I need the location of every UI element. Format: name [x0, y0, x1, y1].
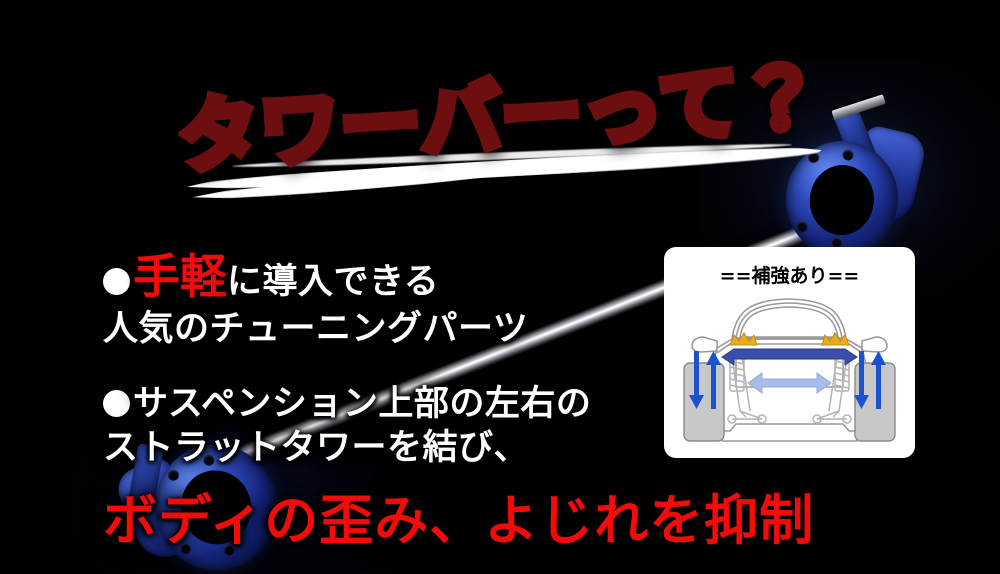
left-wheel	[684, 363, 724, 441]
copy-line-1-rest: に導入できる	[227, 262, 439, 302]
bracket-bolt-hole	[167, 469, 180, 482]
bracket-bolt-hole	[842, 149, 854, 161]
copy-line-3-text: サスペンション上部の左右の	[133, 384, 591, 424]
bullet-dot-icon	[103, 268, 130, 295]
copy-emphasis-easy: 手軽	[133, 250, 227, 305]
poster-canvas: タワーバーって？ 手軽に導入できる 人気のチューニングパーツ サスペンション上部…	[0, 0, 1000, 574]
copy-line-4: ストラットタワーを結び、	[103, 426, 591, 470]
bullet-dot-icon	[103, 390, 130, 417]
inset-caption: ==補強あり==	[664, 261, 915, 288]
copy-block-function: サスペンション上部の左右の ストラットタワーを結び、	[103, 382, 591, 470]
right-strut-mount	[822, 333, 849, 345]
copy-line-2: 人気のチューニングパーツ	[103, 307, 528, 351]
bracket-bolt-hole	[796, 221, 808, 233]
left-strut-mount	[730, 333, 757, 345]
copy-line-3: サスペンション上部の左右の	[103, 382, 591, 426]
inset-diagram-panel: ==補強あり==	[664, 247, 915, 458]
headline-benefit: ボディの歪み、よじれを抑制	[103, 492, 814, 549]
lateral-spread-arrow	[748, 373, 831, 393]
copy-block-benefits: 手軽に導入できる 人気のチューニングパーツ	[103, 248, 528, 351]
car-front-diagram	[670, 291, 909, 454]
copy-line-1: 手軽に導入できる	[103, 248, 528, 307]
bracket-bolt-hole	[808, 151, 820, 163]
